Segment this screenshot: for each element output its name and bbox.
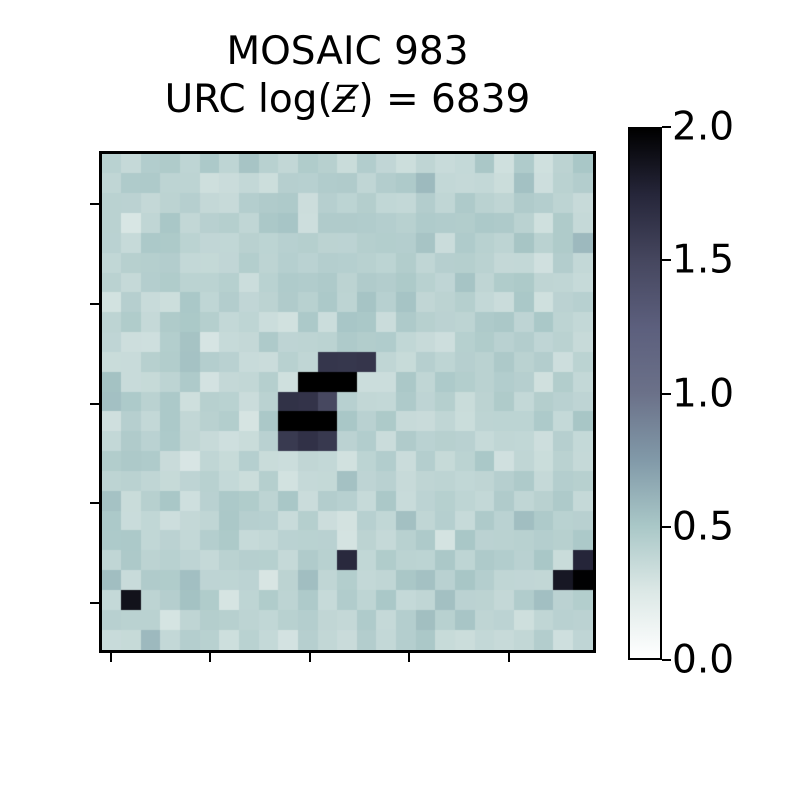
colorbar-tick	[662, 259, 671, 261]
x-axis-tick	[110, 653, 112, 662]
colorbar-tick-label: 2.0	[672, 108, 734, 147]
colorbar-tick	[662, 126, 671, 128]
colorbar-tick	[662, 393, 671, 395]
x-axis-tick	[408, 653, 410, 662]
colorbar-tick	[662, 526, 671, 528]
subtitle-prefix: URC log(	[165, 77, 333, 122]
colorbar-tick	[662, 659, 671, 661]
title-block: MOSAIC 983 URC log(Ƶ) = 6839	[99, 28, 596, 124]
colorbar[interactable]	[628, 127, 662, 660]
x-axis-tick	[209, 653, 211, 662]
subtitle-suffix: ) = 6839	[358, 77, 530, 122]
y-axis-tick	[90, 602, 99, 604]
x-axis-tick	[508, 653, 510, 662]
y-axis-tick	[90, 403, 99, 405]
colorbar-tick-label: 1.5	[672, 241, 734, 280]
y-axis-tick	[90, 303, 99, 305]
y-axis-tick	[90, 502, 99, 504]
figure-canvas: MOSAIC 983 URC log(Ƶ) = 6839 0.00.51.01.…	[0, 0, 800, 800]
image-axes[interactable]	[99, 151, 596, 653]
x-axis-tick	[309, 653, 311, 662]
figure-subtitle: URC log(Ƶ) = 6839	[99, 76, 596, 124]
pixel-heatmap	[102, 154, 593, 650]
y-axis-tick	[90, 203, 99, 205]
page-title: MOSAIC 983	[99, 28, 596, 76]
colorbar-tick-label: 0.0	[672, 641, 734, 680]
colorbar-gradient	[630, 129, 660, 658]
colorbar-tick-label: 1.0	[672, 374, 734, 413]
evidence-symbol: Ƶ	[333, 78, 359, 121]
colorbar-tick-label: 0.5	[672, 507, 734, 546]
